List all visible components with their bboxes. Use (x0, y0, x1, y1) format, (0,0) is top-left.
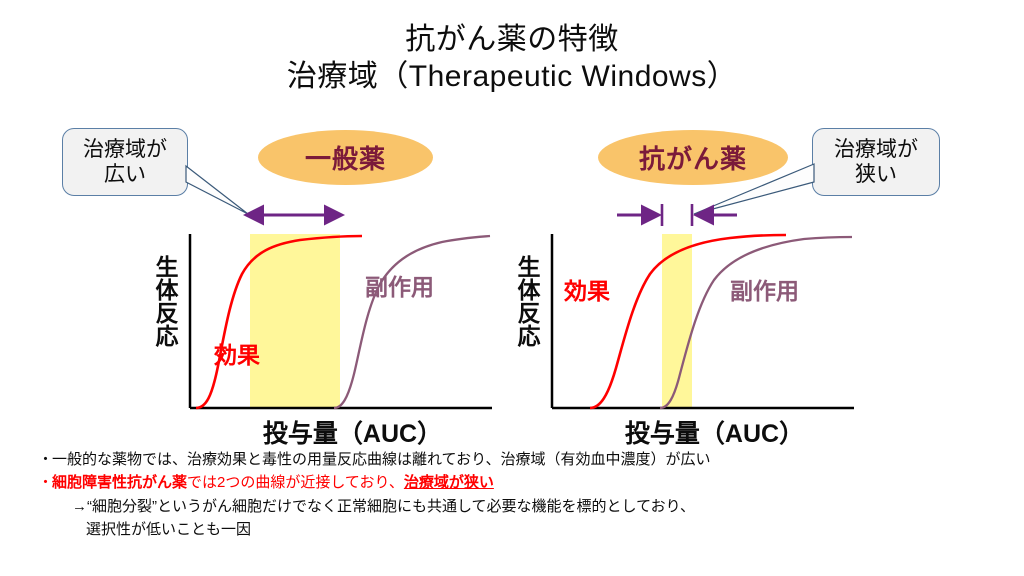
callout-narrow-window: 治療域が狭い (812, 128, 940, 196)
chart-general-drug: 生 体 反 応 効果 副作用 投与量（AUC） (150, 228, 495, 443)
y-char: 生 (152, 256, 182, 279)
chart-right-plot (512, 228, 857, 443)
chart-right-effect-label: 効果 (564, 272, 610, 306)
chart-left-adverse-label: 副作用 (365, 268, 434, 302)
title-line-1: 抗がん薬の特徴 (0, 22, 1024, 59)
callout-left-tail (186, 166, 248, 214)
bullet-2-mid: では2つの曲線が近接しており、 (187, 474, 404, 491)
bullet-marker: ・ (38, 448, 52, 471)
callout-right-text: 治療域が狭い (834, 137, 918, 187)
y-char: 反 (152, 302, 182, 325)
y-char: 応 (152, 325, 182, 348)
bullet-2-underline: 治療域が狭い (404, 474, 494, 491)
y-char: 反 (514, 302, 544, 325)
chart-anticancer-drug: 生 体 反 応 効果 副作用 投与量（AUC） (512, 228, 857, 443)
bullet-item-2: ・細胞障害性抗がん薬では2つの曲線が近接しており、治療域が狭い (38, 471, 998, 494)
callout-wide-window: 治療域が広い (62, 128, 188, 196)
therapeutic-window-band (250, 234, 340, 408)
badge-general-drug: 一般薬 (258, 130, 433, 185)
slide-root: 抗がん薬の特徴 治療域（Therapeutic Windows） 一般薬 抗がん… (0, 0, 1024, 576)
chart-left-effect-label: 効果 (214, 336, 260, 370)
bullet-item-1: ・一般的な薬物では、治療効果と毒性の用量反応曲線は離れており、治療域（有効血中濃… (38, 448, 998, 471)
bullet-list: ・一般的な薬物では、治療効果と毒性の用量反応曲線は離れており、治療域（有効血中濃… (38, 448, 998, 541)
chart-right-adverse-label: 副作用 (730, 272, 799, 306)
bullet-2-strong: 細胞障害性抗がん薬 (52, 474, 187, 491)
sub-bullet-1: →“細胞分裂”というがん細胞だけでなく正常細胞にも共通して必要な機能を標的として… (38, 495, 998, 518)
callout-left-text: 治療域が広い (83, 137, 167, 187)
sub-bullet-2: 選択性が低いことも一因 (38, 518, 998, 541)
chart-left-y-axis-label: 生 体 反 応 (152, 256, 182, 348)
chart-left-x-axis-label: 投与量（AUC） (210, 414, 495, 450)
y-char: 体 (514, 279, 544, 302)
title-line-2: 治療域（Therapeutic Windows） (0, 59, 1024, 96)
chart-right-x-axis-label: 投与量（AUC） (572, 414, 857, 450)
y-char: 生 (514, 256, 544, 279)
bullet-marker: ・ (38, 471, 52, 494)
y-char: 応 (514, 325, 544, 348)
adverse-effect-curve (334, 236, 490, 408)
bullet-1-text: 一般的な薬物では、治療効果と毒性の用量反応曲線は離れており、治療域（有効血中濃度… (52, 451, 711, 468)
chart-right-y-axis-label: 生 体 反 応 (514, 256, 544, 348)
chart-left-plot (150, 228, 495, 443)
badge-anticancer-drug: 抗がん薬 (598, 130, 788, 185)
y-char: 体 (152, 279, 182, 302)
page-title: 抗がん薬の特徴 治療域（Therapeutic Windows） (0, 22, 1024, 95)
